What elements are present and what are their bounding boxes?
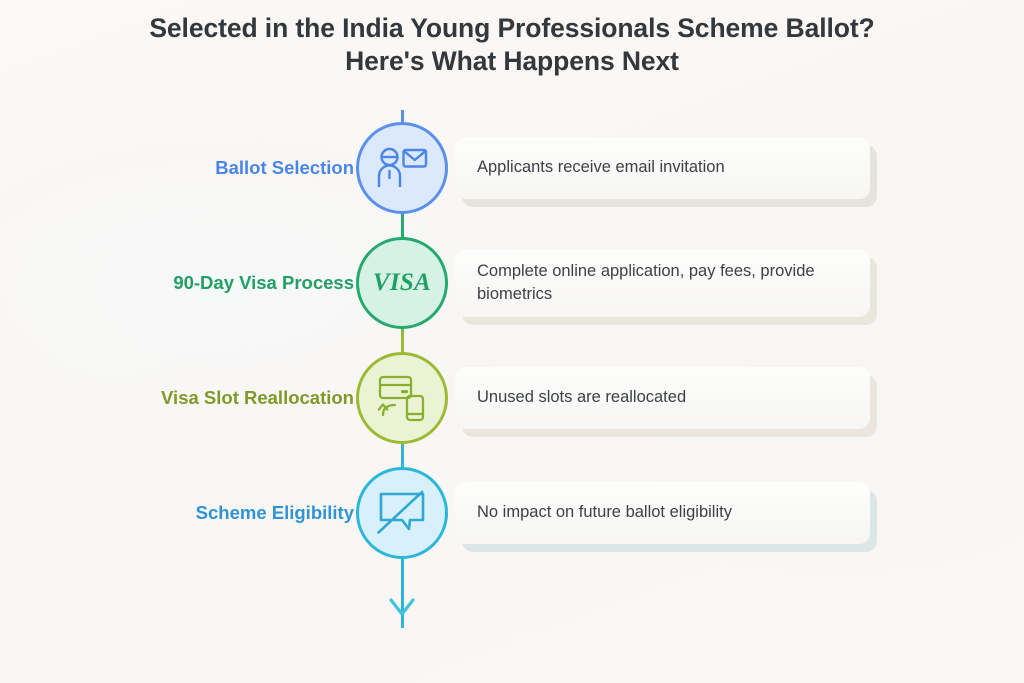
step-label-4: Scheme Eligibility [196, 455, 354, 570]
step-label-2: 90-Day Visa Process [173, 225, 354, 340]
step-card-1: Applicants receive email invitation [455, 137, 870, 199]
step-label-1: Ballot Selection [215, 110, 354, 225]
timeline-step-1: Ballot Selection Applicants receive emai… [0, 110, 1024, 225]
step-circle-3[interactable] [356, 352, 448, 444]
page-title-line-2: Here's What Happens Next [0, 45, 1024, 78]
step-circle-1[interactable] [356, 122, 448, 214]
timeline-step-4: Scheme Eligibility No impact on future b… [0, 455, 1024, 570]
step-circle-2[interactable]: VISA [356, 237, 448, 329]
arrow-down-icon [389, 598, 415, 623]
step-circle-4[interactable] [356, 467, 448, 559]
card-transfer-phone-icon [377, 374, 427, 422]
step-card-3: Unused slots are reallocated [455, 367, 870, 429]
step-card-text-4: No impact on future ballot eligibility [477, 501, 732, 524]
timeline: Ballot Selection Applicants receive emai… [0, 110, 1024, 570]
page-title-line-1: Selected in the India Young Professional… [0, 12, 1024, 45]
step-card-text-3: Unused slots are reallocated [477, 386, 686, 409]
timeline-step-3: Visa Slot Reallocation Unused slots are … [0, 340, 1024, 455]
infographic-page: Selected in the India Young Professional… [0, 0, 1024, 683]
person-envelope-icon [376, 145, 428, 191]
step-card-text-1: Applicants receive email invitation [477, 156, 725, 179]
step-label-3: Visa Slot Reallocation [161, 340, 354, 455]
timeline-step-2: 90-Day Visa Process Complete online appl… [0, 225, 1024, 340]
no-comment-icon [377, 490, 427, 536]
step-card-text-2: Complete online application, pay fees, p… [477, 260, 852, 306]
visa-card-icon: VISA [373, 269, 431, 297]
step-card-4: No impact on future ballot eligibility [455, 482, 870, 544]
page-title: Selected in the India Young Professional… [0, 12, 1024, 78]
step-card-2: Complete online application, pay fees, p… [455, 249, 870, 317]
